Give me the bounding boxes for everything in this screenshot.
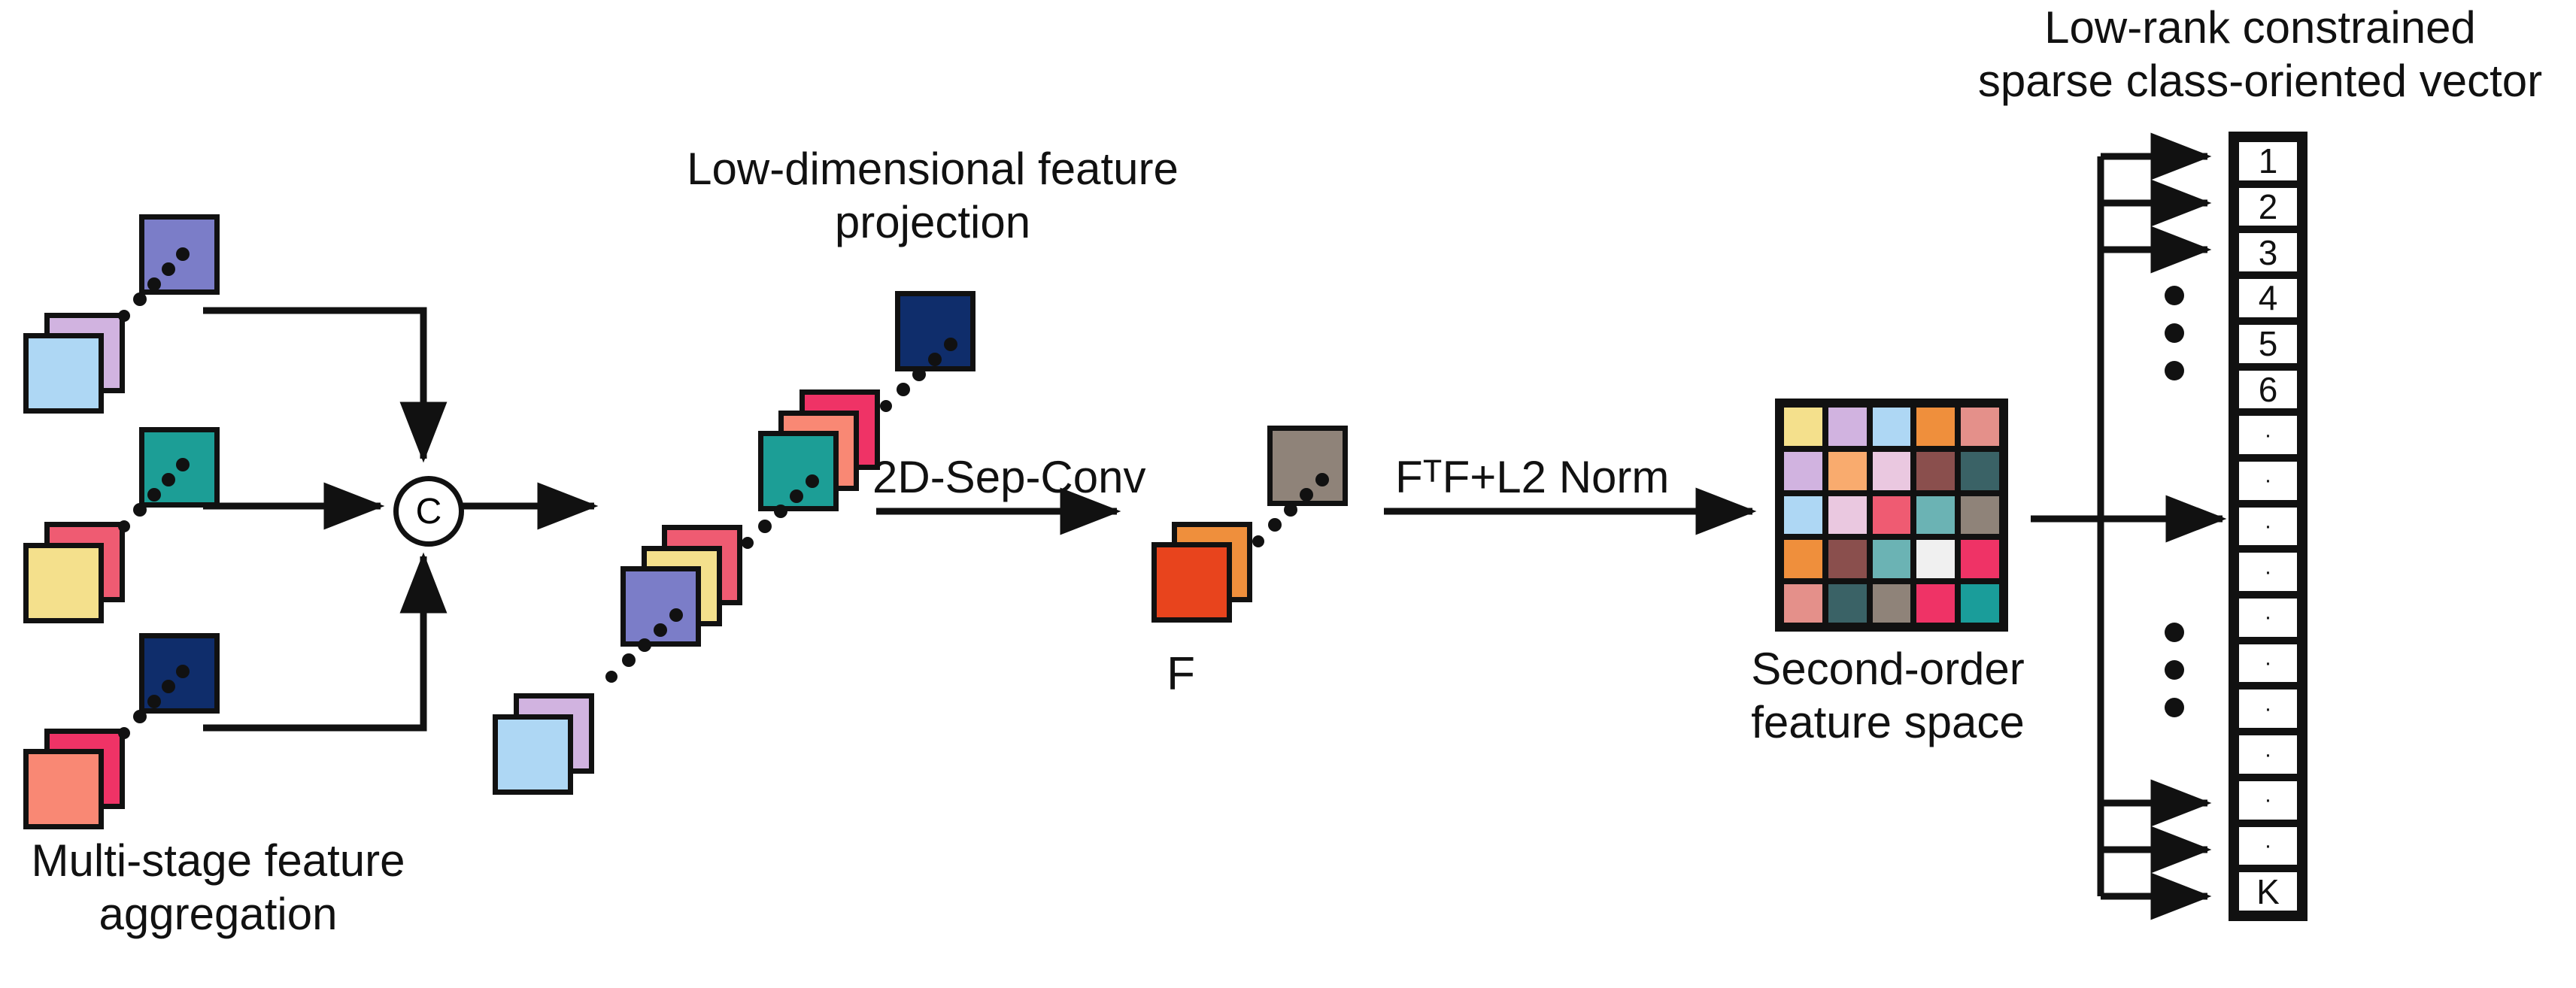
vector-cell-17[interactable]: K [2235,868,2301,914]
second-order-cell-r5-c2 [1825,581,1870,626]
second-order-cell-r5-c3 [1870,581,1914,626]
label-low-dimensional-feature-projection: Low-dimensional feature projection [632,143,1233,250]
second-order-cell-r5-c1 [1781,581,1825,626]
second-order-cell-r3-c4 [1913,493,1958,538]
vector-cell-1[interactable]: 1 [2235,138,2301,184]
second-order-cell-r1-c2 [1825,405,1870,449]
stage1-group2-top-square [139,427,220,508]
stage1-group1-front-square [23,333,104,414]
stage1-group3-front-square [23,749,104,829]
vector-ellipsis-lower [2165,623,2184,735]
second-order-cell-r4-c3 [1870,537,1914,581]
second-order-cell-r2-c1 [1781,449,1825,493]
second-order-cell-r1-c1 [1781,405,1825,449]
second-order-cell-r5-c5 [1958,581,2002,626]
stage2-group2-layer-3 [620,566,701,647]
vector-cell-11[interactable]: · [2235,595,2301,641]
second-order-cell-r2-c2 [1825,449,1870,493]
second-order-cell-r4-c4 [1913,537,1958,581]
diagram-canvas: Multi-stage feature aggregation Low-dime… [0,0,2576,988]
second-order-feature-grid [1775,399,2008,632]
stage2-group4-layer-1 [895,291,975,371]
second-order-cell-r3-c2 [1825,493,1870,538]
vector-cell-14[interactable]: · [2235,732,2301,777]
second-order-cell-r5-c4 [1913,581,1958,626]
label-ftf-l2-norm: FᵀF+L2 Norm [1395,451,1756,505]
second-order-cell-r1-c5 [1958,405,2002,449]
vector-cell-9[interactable]: · [2235,504,2301,550]
second-order-cell-r3-c1 [1781,493,1825,538]
vector-cell-4[interactable]: 4 [2235,275,2301,321]
vector-cell-6[interactable]: 6 [2235,367,2301,413]
label-2d-sep-conv: 2D-Sep-Conv [872,451,1188,505]
stage2-group3-layer-3 [758,431,839,511]
vector-cell-10[interactable]: · [2235,549,2301,595]
second-order-cell-r4-c1 [1781,537,1825,581]
vector-cell-3[interactable]: 3 [2235,229,2301,275]
class-oriented-vector-frame: 123456··········K [2229,132,2307,921]
stage2-group1-layer-2 [493,714,573,795]
vector-cell-5[interactable]: 5 [2235,321,2301,367]
label-f: F [1128,647,1233,702]
second-order-cell-r2-c4 [1913,449,1958,493]
second-order-cell-r4-c2 [1825,537,1870,581]
second-order-cell-r3-c3 [1870,493,1914,538]
stage1-group3-top-square [139,633,220,714]
f-block-front-square [1151,542,1232,623]
second-order-cell-r2-c5 [1958,449,2002,493]
second-order-cell-r1-c4 [1913,405,1958,449]
concat-node[interactable]: C [393,476,464,547]
f-block-top-square [1267,426,1348,506]
stage1-group1-top-square [139,214,220,295]
vector-cell-12[interactable]: · [2235,641,2301,686]
vector-cell-16[interactable]: · [2235,823,2301,869]
second-order-cell-r3-c5 [1958,493,2002,538]
stage1-group2-front-square [23,543,104,623]
second-order-cell-r2-c3 [1870,449,1914,493]
label-multi-stage-feature-aggregation: Multi-stage feature aggregation [0,835,436,941]
vector-cell-15[interactable]: · [2235,777,2301,823]
second-order-cell-r4-c5 [1958,537,2002,581]
vector-cell-7[interactable]: · [2235,412,2301,458]
vector-cell-2[interactable]: 2 [2235,184,2301,230]
second-order-cell-r1-c3 [1870,405,1914,449]
label-second-order-feature-space: Second-order feature space [1655,643,2121,750]
vector-ellipsis-upper [2165,286,2184,399]
label-low-rank-constrained-vector: Low-rank constrained sparse class-orient… [1944,2,2576,108]
vector-cell-8[interactable]: · [2235,458,2301,504]
vector-distribution-bus [2101,156,2207,896]
vector-cell-13[interactable]: · [2235,686,2301,732]
